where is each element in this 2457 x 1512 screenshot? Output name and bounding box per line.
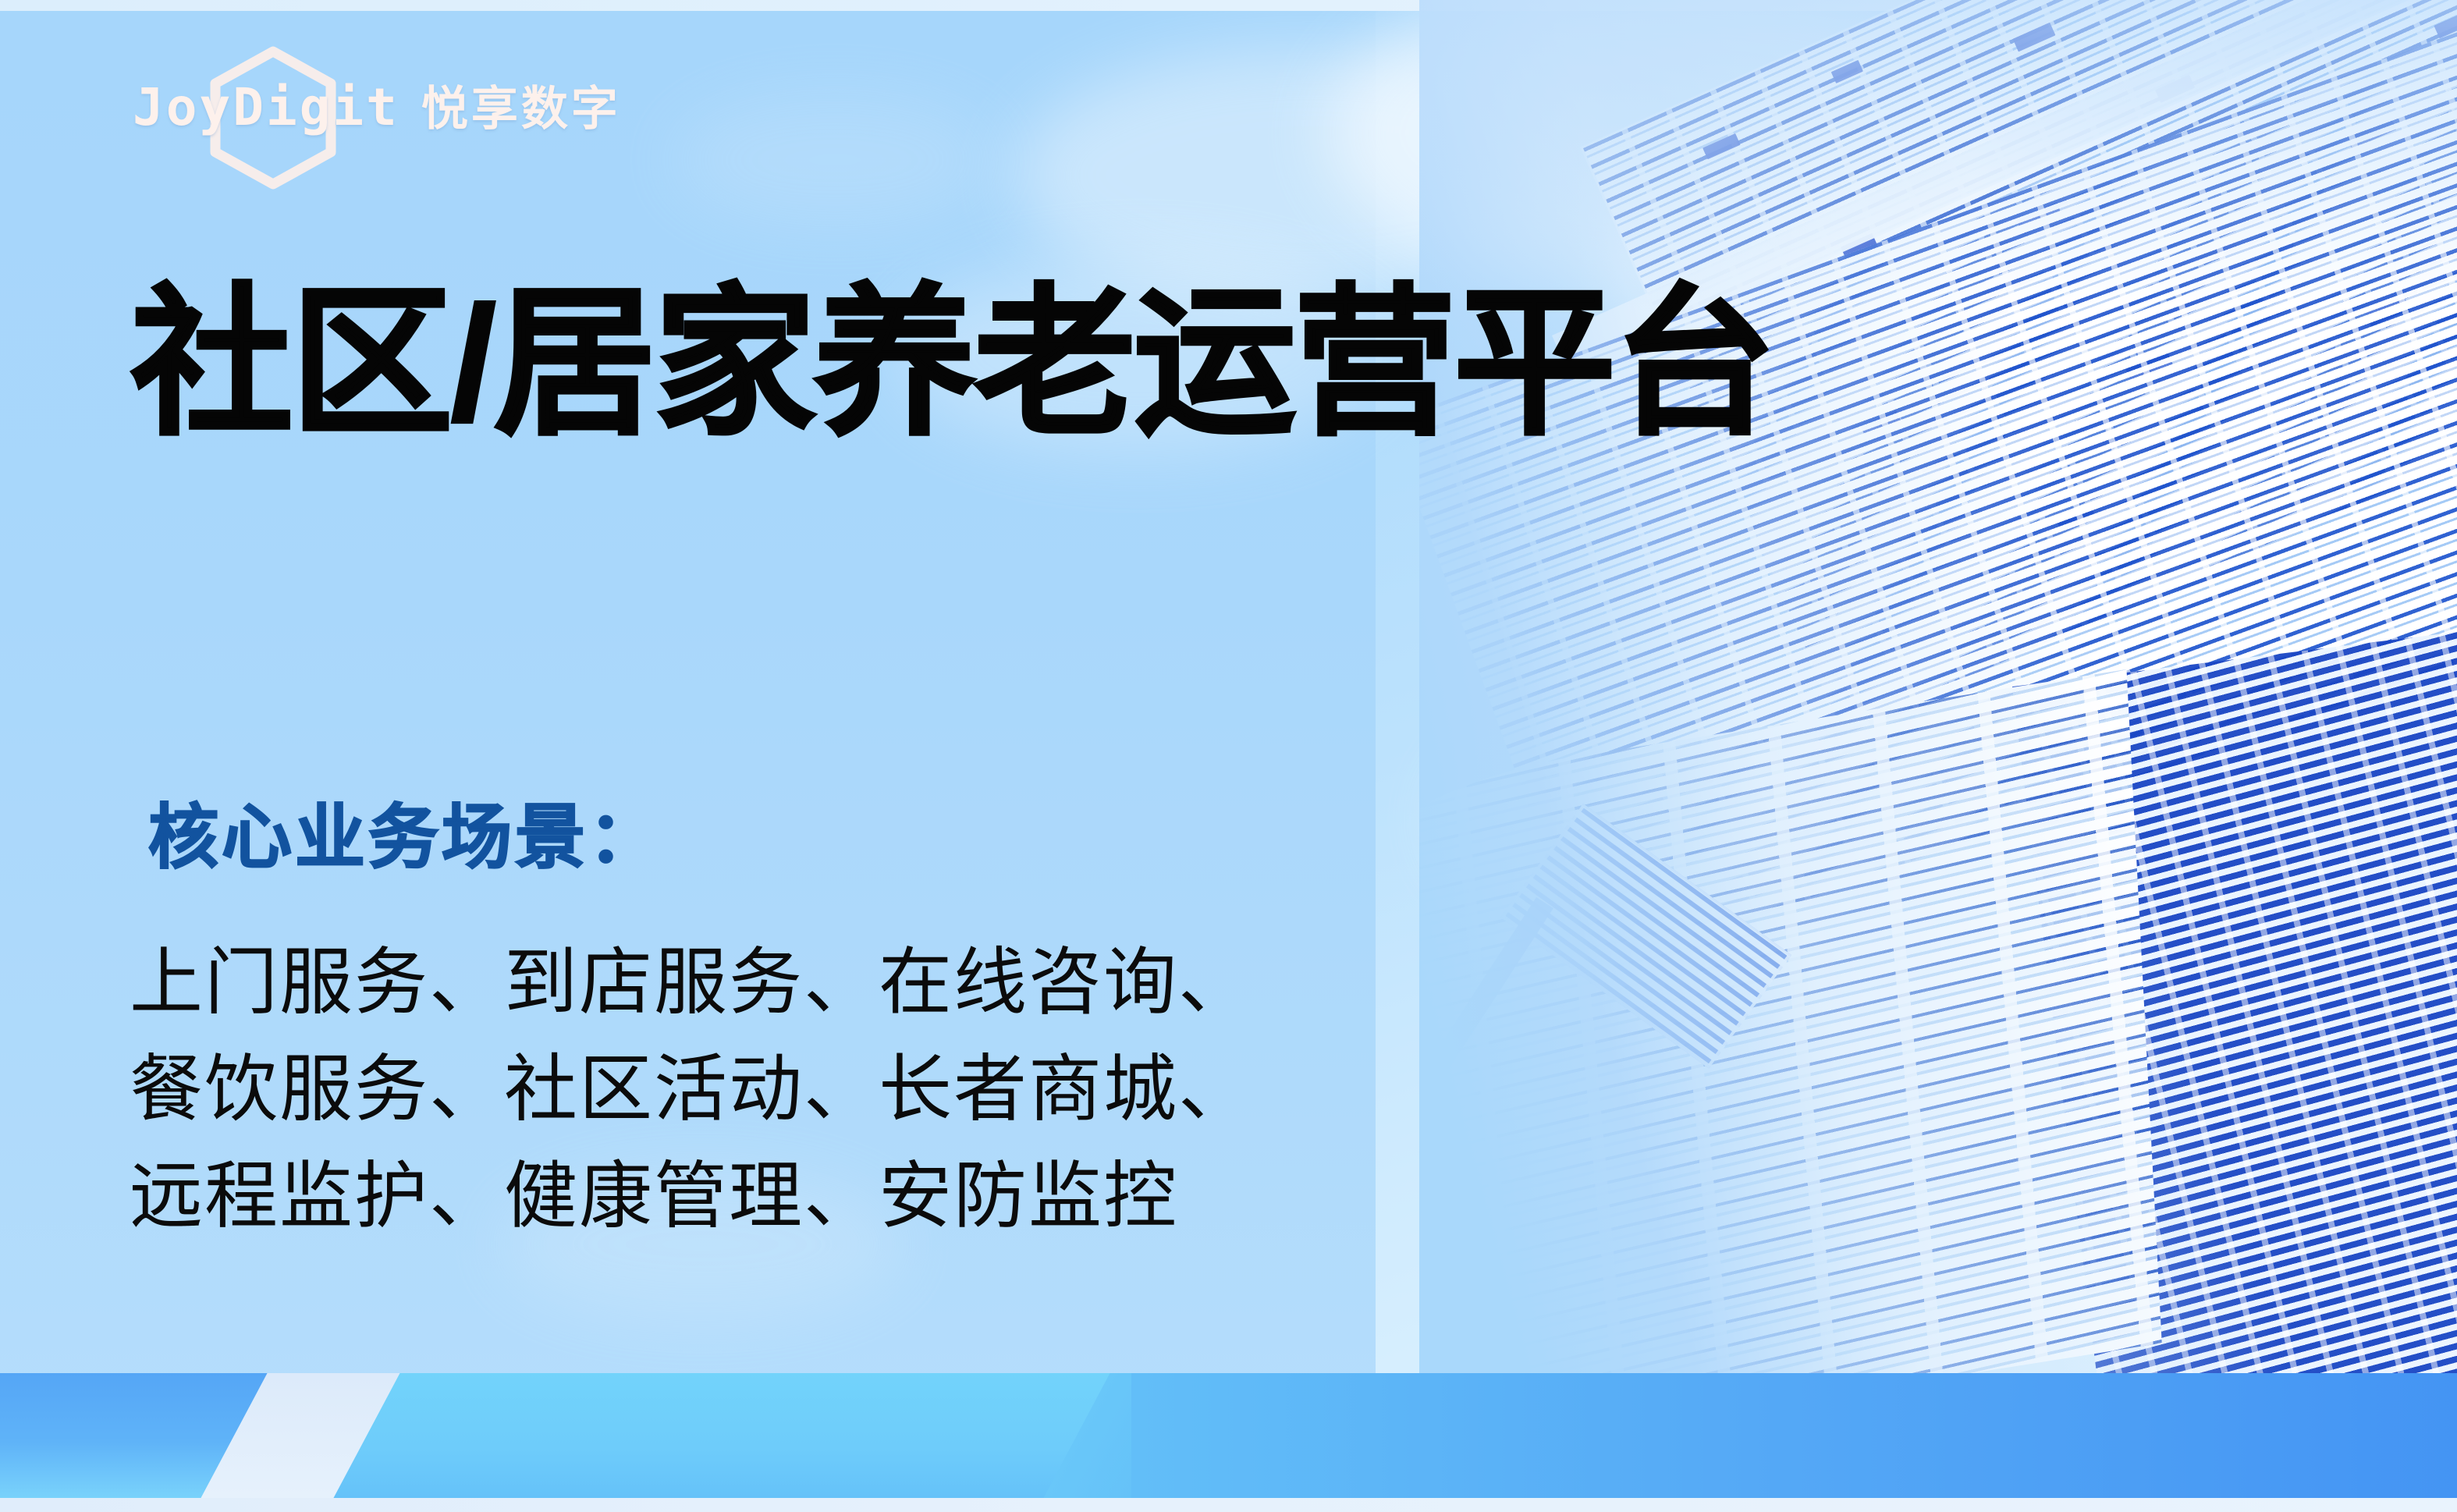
scenario-line: 远程监护、健康管理、安防监控 [130, 1142, 1253, 1249]
bottom-band-right [1131, 1373, 2457, 1498]
cloud-icon [671, 94, 999, 226]
building-tower-lower [1419, 669, 2162, 1397]
scenario-line: 上门服务、到店服务、在线咨询、 [130, 928, 1253, 1035]
bottom-decoration [0, 1348, 2457, 1512]
page-title: 社区/居家养老运营平台 [131, 275, 1774, 453]
scenario-line: 餐饮服务、社区活动、长者商城、 [130, 1035, 1253, 1142]
presentation-slide: JoyDigit 悦享数字 社区/居家养老运营平台 核心业务场景： 上门服务、到… [0, 0, 2457, 1512]
section-subtitle: 核心业务场景： [148, 780, 662, 882]
logo-brand-en: JoyDigit [133, 77, 399, 137]
logo-brand-cn: 悦享数字 [421, 71, 621, 139]
brand-logo[interactable]: JoyDigit 悦享数字 [133, 61, 621, 148]
scenario-list: 上门服务、到店服务、在线咨询、 餐饮服务、社区活动、长者商城、 远程监护、健康管… [130, 928, 1253, 1250]
building-photo [1419, 0, 2457, 1397]
